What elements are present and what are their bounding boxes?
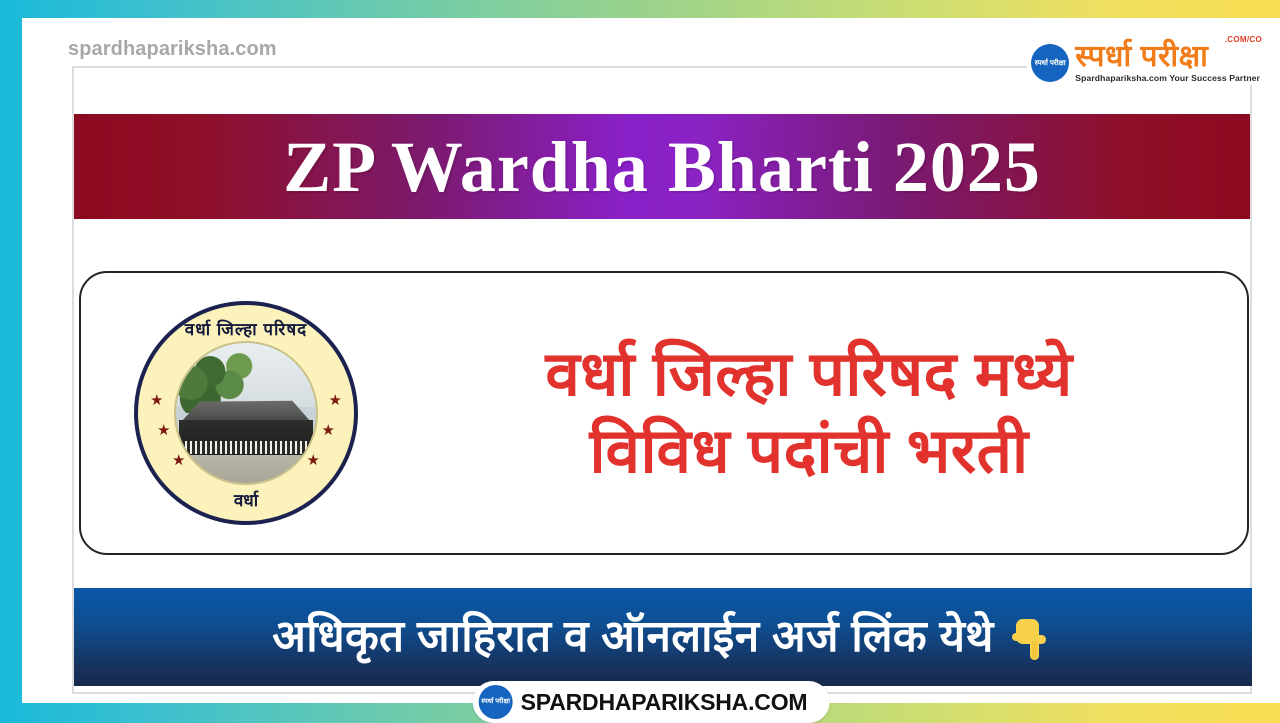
- emblem-star-icon: ★: [157, 423, 170, 438]
- cta-text: अधिकृत जाहिरात व ऑनलाईन अर्ज लिंक येथे: [272, 615, 993, 659]
- emblem-photo-railing: [180, 441, 312, 454]
- headline-line-1: वर्धा जिल्हा परिषद मध्ये: [545, 338, 1072, 411]
- emblem-slot: वर्धा जिल्हा परिषद ★ ★ ★ ★ ★ ★: [81, 301, 411, 525]
- zilla-parishad-seal-icon: वर्धा जिल्हा परिषद ★ ★ ★ ★ ★ ★: [134, 301, 358, 525]
- emblem-star-icon: ★: [322, 423, 335, 438]
- brand-logo-text-group: स्पर्धा परीक्षा .COM/CO Spardhapariksha.…: [1075, 42, 1260, 83]
- emblem-star-icon: ★: [150, 393, 163, 408]
- pointing-down-hand-icon: [1008, 611, 1054, 663]
- brand-logo: स्पर्धा परीक्षा स्पर्धा परीक्षा .COM/CO …: [1027, 40, 1262, 85]
- poster-stage: spardhapariksha.com स्पर्धा परीक्षा स्पर…: [0, 0, 1280, 720]
- headline-line-2: विविध पदांची भरती: [589, 415, 1028, 488]
- content-box: वर्धा जिल्हा परिषद ★ ★ ★ ★ ★ ★: [79, 271, 1249, 555]
- brand-logo-tld: .COM/CO: [1225, 35, 1262, 44]
- brand-logo-badge-text: स्पर्धा परीक्षा: [1035, 59, 1066, 66]
- brand-logo-wordmark: स्पर्धा परीक्षा: [1075, 42, 1260, 72]
- emblem-building-photo: [174, 341, 318, 485]
- title-banner: ZP Wardha Bharti 2025: [74, 114, 1250, 219]
- poster-card: spardhapariksha.com स्पर्धा परीक्षा स्पर…: [22, 18, 1280, 703]
- bottom-badge-label: SPARDHAPARIKSHA.COM: [521, 689, 808, 716]
- brand-logo-badge-icon: स्पर्धा परीक्षा: [1031, 44, 1069, 82]
- emblem-top-text: वर्धा जिल्हा परिषद: [138, 317, 354, 340]
- emblem-bottom-text: वर्धा: [138, 488, 354, 511]
- brand-logo-wordmark-wrap: स्पर्धा परीक्षा .COM/CO: [1075, 42, 1260, 72]
- emblem-star-icon: ★: [172, 453, 185, 468]
- page-title: ZP Wardha Bharti 2025: [283, 131, 1041, 203]
- bottom-brand-badge: स्पर्धा परीक्षा SPARDHAPARIKSHA.COM: [473, 681, 830, 723]
- site-name-label: spardhapariksha.com: [68, 38, 277, 61]
- bottom-badge-logo-icon: स्पर्धा परीक्षा: [479, 685, 513, 719]
- emblem-star-icon: ★: [307, 453, 320, 468]
- headline-block: वर्धा जिल्हा परिषद मध्ये विविध पदांची भर…: [411, 338, 1247, 488]
- cta-banner[interactable]: अधिकृत जाहिरात व ऑनलाईन अर्ज लिंक येथे: [74, 588, 1252, 686]
- emblem-photo-ground: [176, 455, 316, 483]
- emblem-photo-roof: [182, 399, 311, 421]
- bottom-badge-logo-text: स्पर्धा परीक्षा: [481, 699, 510, 706]
- emblem-star-icon: ★: [329, 393, 342, 408]
- brand-logo-tagline: Spardhapariksha.com Your Success Partner: [1075, 73, 1260, 83]
